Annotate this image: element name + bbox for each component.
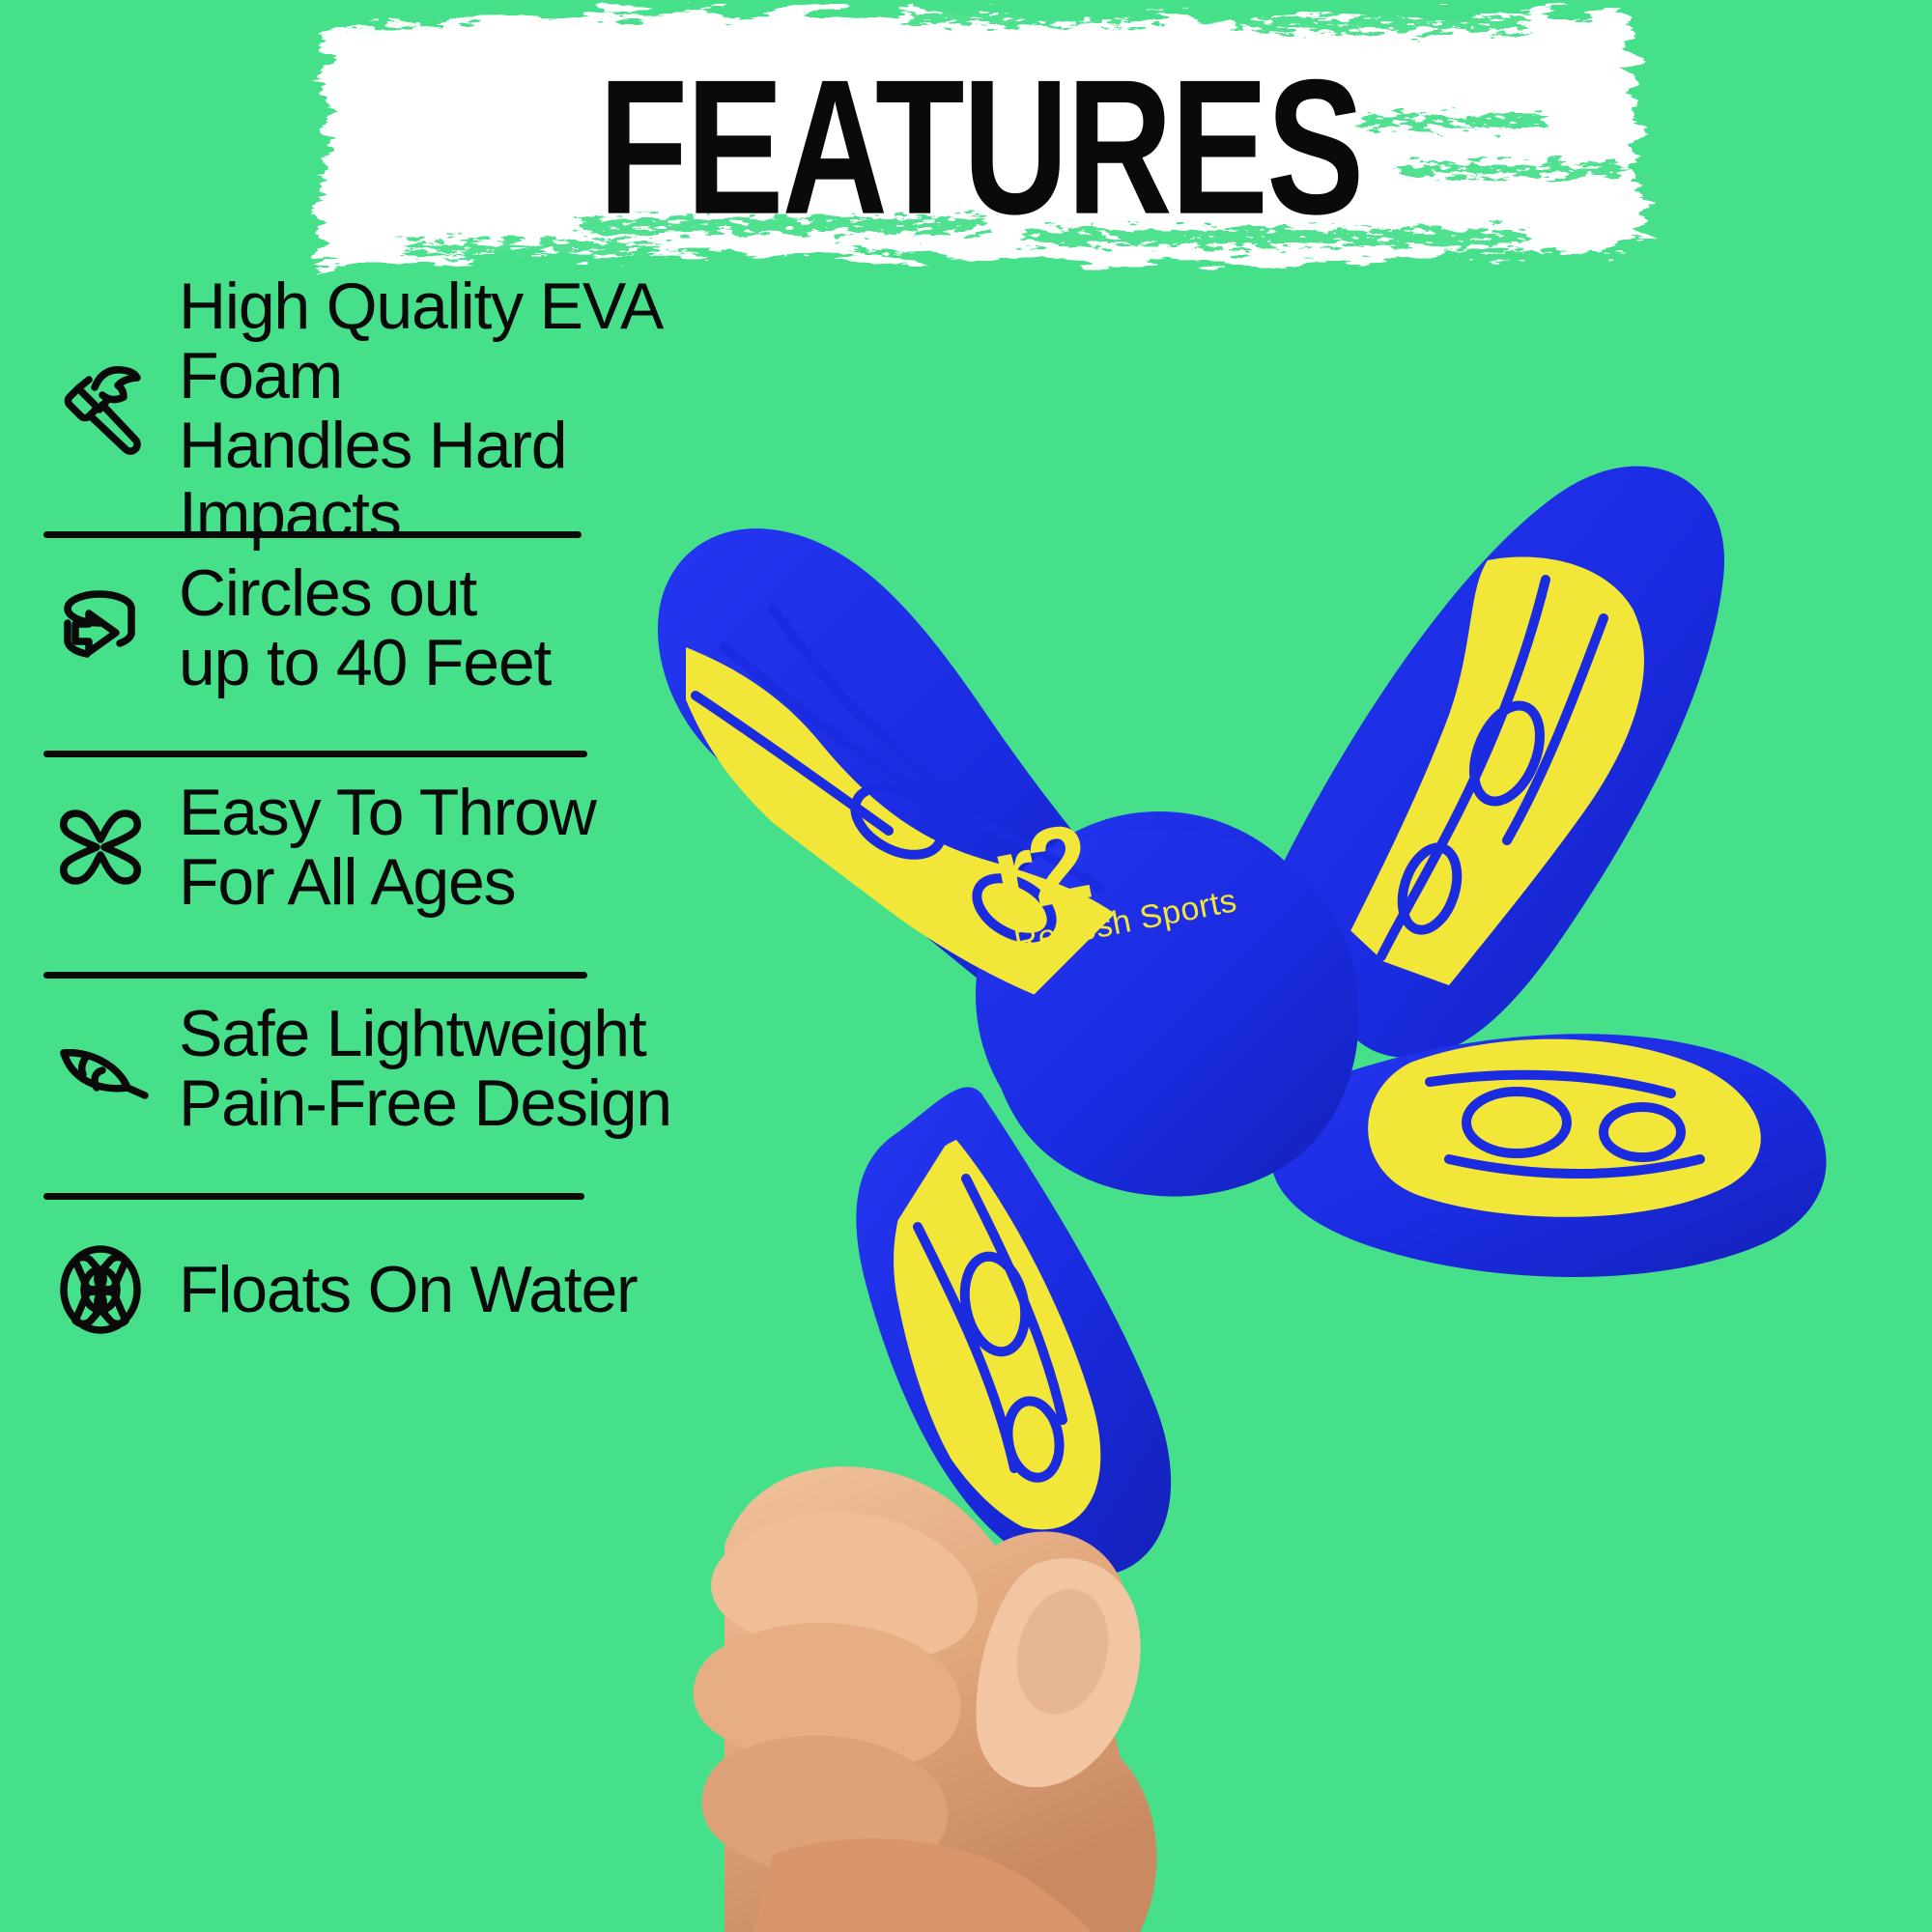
x-boomerang-icon	[43, 790, 157, 904]
feather-icon	[43, 1011, 157, 1125]
life-ring-icon	[43, 1233, 157, 1347]
circular-return-arrow-icon	[43, 571, 157, 685]
hammer-icon	[43, 354, 157, 468]
header-banner: FEATURES	[290, 0, 1671, 280]
divider	[43, 751, 587, 757]
product-image	[580, 406, 1932, 1932]
boomerang-body	[658, 467, 1827, 1577]
feature-label: Easy To Throw For All Ages	[179, 778, 596, 917]
page-title: FEATURES	[338, 0, 1623, 311]
divider	[43, 972, 587, 979]
infographic-canvas: FEATURES High Quality EVA Foam Handles H…	[0, 0, 1932, 1932]
feature-label: Circles out up to 40 Feet	[179, 558, 551, 697]
feature-label: Floats On Water	[179, 1255, 638, 1324]
divider	[43, 1193, 584, 1200]
